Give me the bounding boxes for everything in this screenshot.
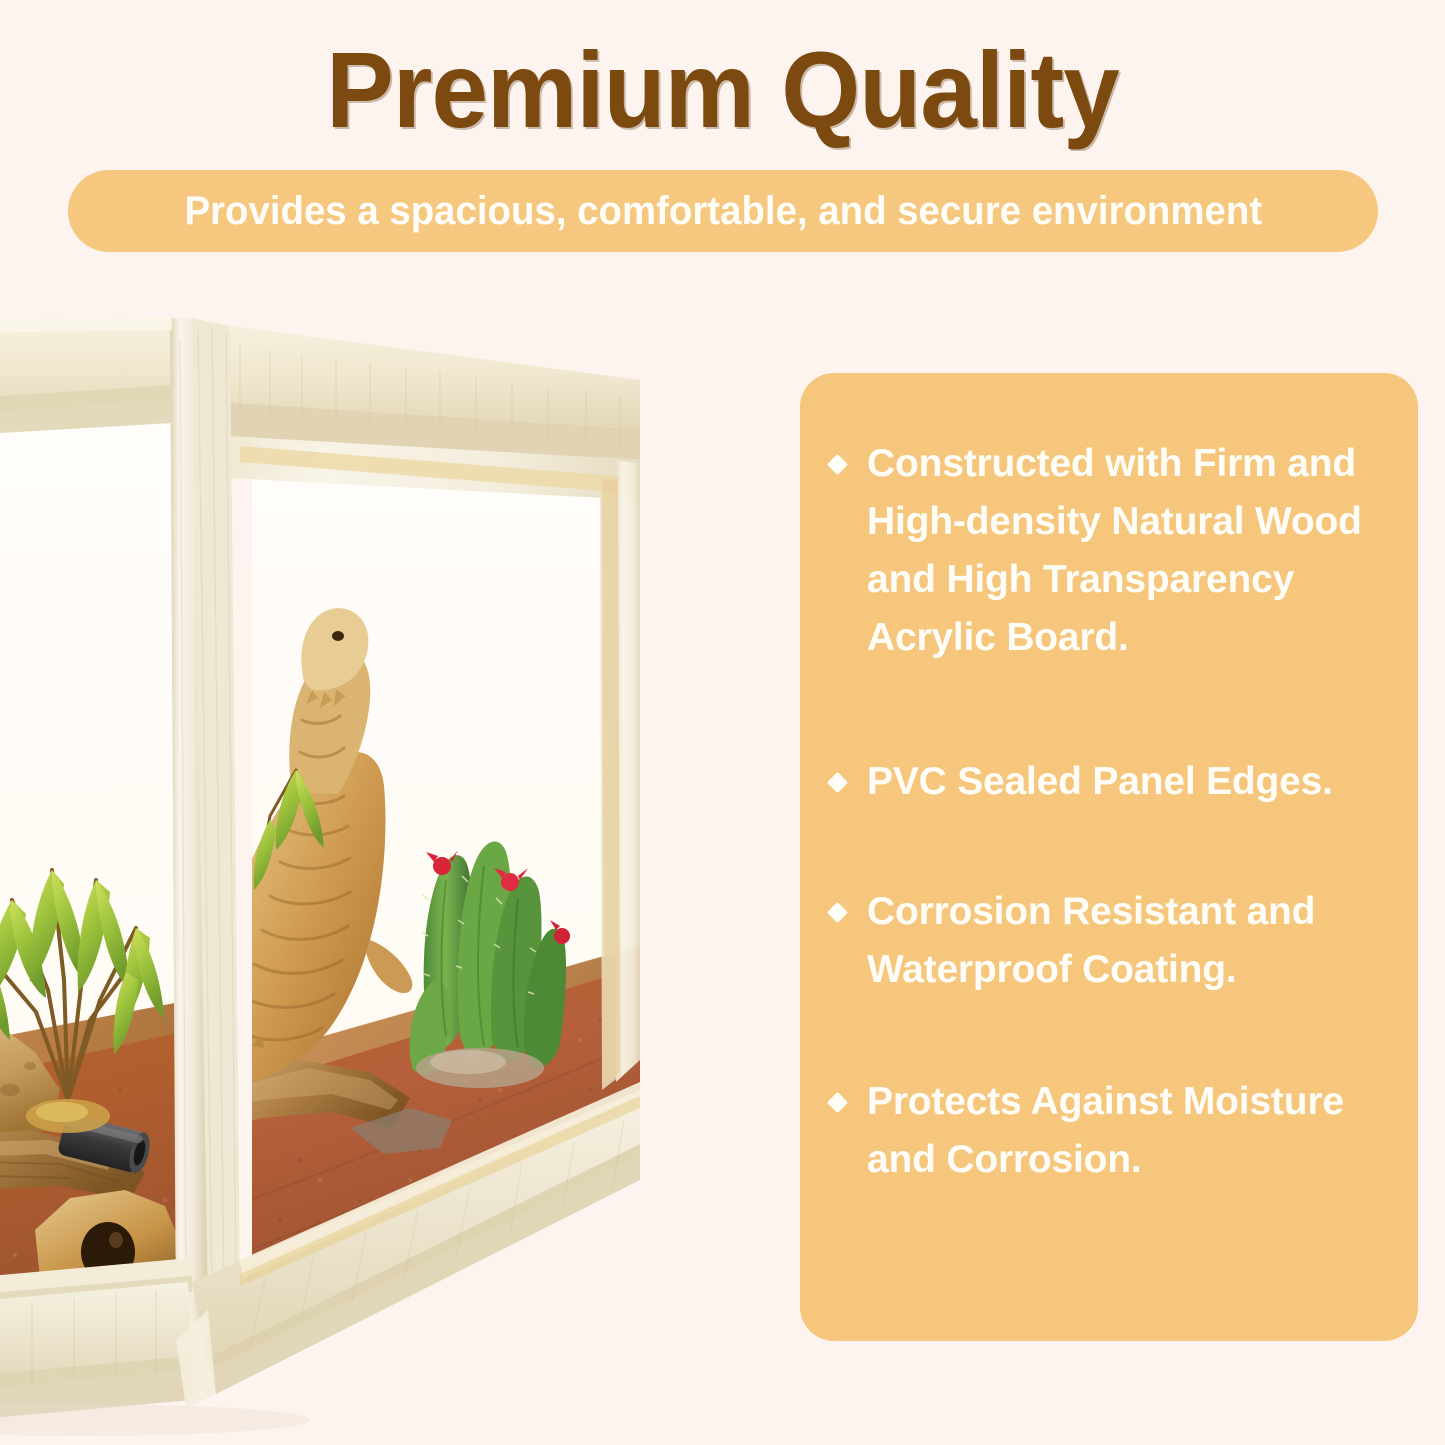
- feature-list-item: Constructed with Firm and High-density N…: [826, 435, 1392, 667]
- feature-item-text: Protects Against Moisture and Corrosion.: [867, 1073, 1392, 1189]
- feature-item-text: PVC Sealed Panel Edges.: [867, 753, 1333, 811]
- feature-list-item: PVC Sealed Panel Edges.: [826, 753, 1392, 811]
- feature-list-item: Protects Against Moisture and Corrosion.: [826, 1073, 1392, 1189]
- diamond-bullet-icon: [827, 1092, 848, 1113]
- diamond-bullet-icon: [827, 772, 848, 793]
- feature-list-item: Corrosion Resistant and Waterproof Coati…: [826, 883, 1392, 999]
- infographic-root: Premium Quality Provides a spacious, com…: [0, 0, 1445, 1445]
- feature-item-text: Corrosion Resistant and Waterproof Coati…: [867, 883, 1392, 999]
- product-photo-terrarium: [0, 300, 700, 1445]
- subtitle-banner: Provides a spacious, comfortable, and se…: [68, 170, 1378, 252]
- diamond-bullet-icon: [827, 902, 848, 923]
- diamond-bullet-icon: [827, 454, 848, 475]
- page-title: Premium Quality: [43, 34, 1401, 146]
- subtitle-text: Provides a spacious, comfortable, and se…: [184, 189, 1262, 233]
- feature-item-text: Constructed with Firm and High-density N…: [867, 435, 1392, 667]
- terrarium-illustration: [0, 300, 700, 1445]
- feature-panel: Constructed with Firm and High-density N…: [800, 373, 1418, 1341]
